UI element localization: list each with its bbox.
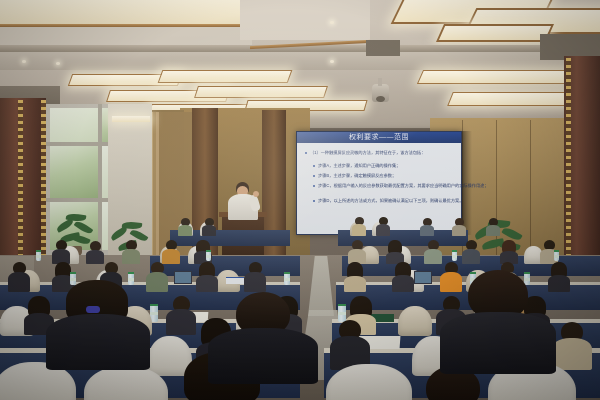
presenter bbox=[226, 182, 260, 218]
foreground-attendee bbox=[440, 270, 556, 366]
laptop bbox=[174, 271, 192, 284]
window-pane bbox=[50, 108, 98, 142]
projector-mount bbox=[378, 78, 382, 86]
foreground-attendee bbox=[46, 280, 150, 360]
conference-hall-photo: 权利要求——范围 （1）一种触摸屏反应灵敏的方法，其特征在于，该方法包括： 步骤… bbox=[0, 0, 600, 400]
chair-back bbox=[326, 364, 412, 400]
chair-back bbox=[84, 366, 168, 400]
foreground-attendee bbox=[208, 292, 318, 372]
laptop bbox=[414, 271, 432, 284]
presenter-hand bbox=[253, 191, 259, 197]
name-card bbox=[226, 277, 244, 284]
hair-tie bbox=[86, 306, 100, 313]
window-pane bbox=[50, 146, 98, 198]
